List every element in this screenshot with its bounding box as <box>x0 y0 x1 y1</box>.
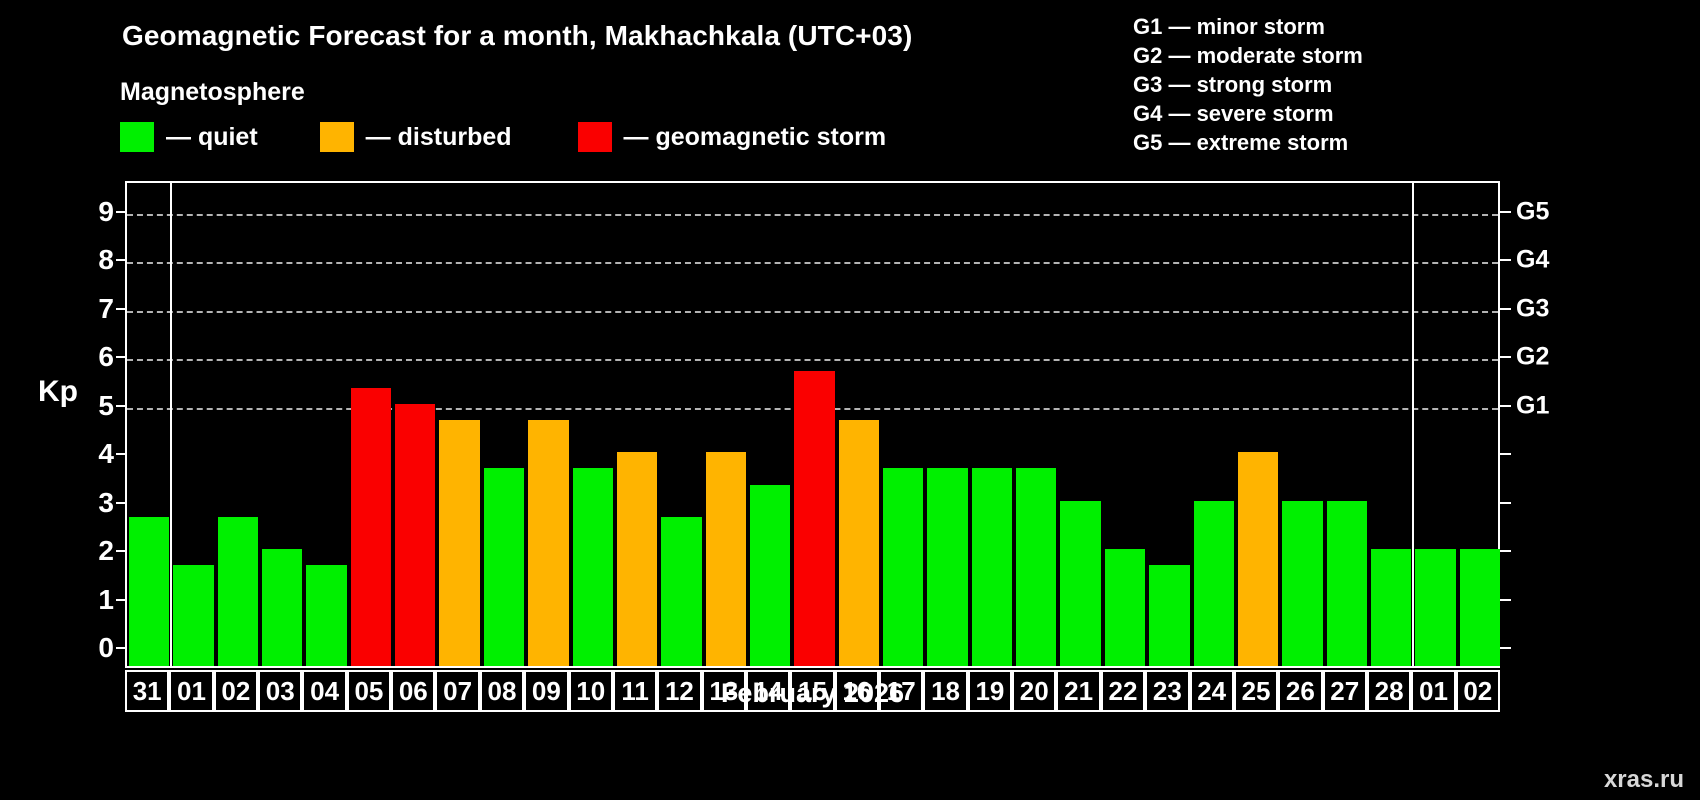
bar[interactable] <box>1016 468 1056 666</box>
bar[interactable] <box>484 468 524 666</box>
legend-heading: Magnetosphere <box>120 78 305 107</box>
bar[interactable] <box>927 468 967 666</box>
legend-swatch-quiet <box>120 122 154 152</box>
bar[interactable] <box>706 452 746 666</box>
month-separator <box>1412 183 1414 666</box>
bar[interactable] <box>750 485 790 667</box>
bar[interactable] <box>839 420 879 666</box>
color-legend: — quiet — disturbed — geomagnetic storm <box>120 122 886 152</box>
bar[interactable] <box>1060 501 1100 667</box>
legend-label-storm: — geomagnetic storm <box>624 123 887 152</box>
g-axis-tick-mark <box>1500 453 1511 455</box>
y-tick-label: 8 <box>68 244 114 276</box>
y-tick-label: 7 <box>68 293 114 325</box>
g-scale-row: G2 — moderate storm <box>1133 41 1363 70</box>
plot-inner <box>127 183 1498 666</box>
watermark: xras.ru <box>1604 766 1684 794</box>
bar-series <box>127 183 1498 666</box>
g-axis-tick-mark <box>1500 502 1511 504</box>
bar[interactable] <box>1149 565 1189 666</box>
y-tick-label: 9 <box>68 196 114 228</box>
y-tick-label: 6 <box>68 341 114 373</box>
g-axis-tick-mark <box>1500 356 1511 358</box>
legend-swatch-disturbed <box>320 122 354 152</box>
bar[interactable] <box>218 517 258 666</box>
y-tick-label: 2 <box>68 535 114 567</box>
bar[interactable] <box>528 420 568 666</box>
g-scale-row: G5 — extreme storm <box>1133 128 1363 157</box>
bar[interactable] <box>1460 549 1500 666</box>
legend-label-quiet: — quiet <box>166 123 258 152</box>
plot-area <box>125 181 1500 668</box>
legend-swatch-storm <box>578 122 612 152</box>
bar[interactable] <box>794 371 834 666</box>
g-axis-tick-label: G2 <box>1516 343 1549 372</box>
y-tick-label: 0 <box>68 632 114 664</box>
g-axis-tick-label: G3 <box>1516 294 1549 323</box>
bar[interactable] <box>1105 549 1145 666</box>
y-tick-label: 4 <box>68 438 114 470</box>
g-axis-tick-mark <box>1500 308 1511 310</box>
bar[interactable] <box>1238 452 1278 666</box>
bar[interactable] <box>617 452 657 666</box>
legend-item-disturbed: — disturbed <box>320 122 512 152</box>
g-axis-tick-label: G1 <box>1516 391 1549 420</box>
y-tick-label: 1 <box>68 584 114 616</box>
bar[interactable] <box>883 468 923 666</box>
g-axis-tick-label: G4 <box>1516 246 1549 275</box>
legend-item-quiet: — quiet <box>120 122 258 152</box>
bar[interactable] <box>439 420 479 666</box>
bar[interactable] <box>972 468 1012 666</box>
g-scale-row: G1 — minor storm <box>1133 12 1363 41</box>
legend-item-storm: — geomagnetic storm <box>578 122 887 152</box>
bar[interactable] <box>306 565 346 666</box>
g-axis-tick-mark <box>1500 599 1511 601</box>
g-axis-tick-mark <box>1500 259 1511 261</box>
bar[interactable] <box>1194 501 1234 667</box>
bar[interactable] <box>262 549 302 666</box>
bar[interactable] <box>351 388 391 667</box>
y-tick-label: 3 <box>68 487 114 519</box>
bar[interactable] <box>395 404 435 667</box>
bar[interactable] <box>1327 501 1367 667</box>
g-axis-tick-mark <box>1500 550 1511 552</box>
g-scale-row: G4 — severe storm <box>1133 99 1363 128</box>
month-separator <box>170 183 172 666</box>
bar[interactable] <box>1371 549 1411 666</box>
bar[interactable] <box>661 517 701 666</box>
bar[interactable] <box>1282 501 1322 667</box>
bar[interactable] <box>1415 549 1455 666</box>
g-axis-tick-mark <box>1500 211 1511 213</box>
bar[interactable] <box>129 517 169 666</box>
page-title: Geomagnetic Forecast for a month, Makhac… <box>122 20 912 52</box>
bar[interactable] <box>173 565 213 666</box>
bar[interactable] <box>573 468 613 666</box>
g-axis-tick-label: G5 <box>1516 197 1549 226</box>
x-axis-title: February 2026 <box>125 678 1500 709</box>
g-axis-tick-mark <box>1500 647 1511 649</box>
y-tick-label: 5 <box>68 390 114 422</box>
legend-label-disturbed: — disturbed <box>366 123 512 152</box>
g-axis-tick-mark <box>1500 405 1511 407</box>
g-scale-row: G3 — strong storm <box>1133 70 1363 99</box>
g-scale-legend: G1 — minor storm G2 — moderate storm G3 … <box>1133 12 1363 157</box>
